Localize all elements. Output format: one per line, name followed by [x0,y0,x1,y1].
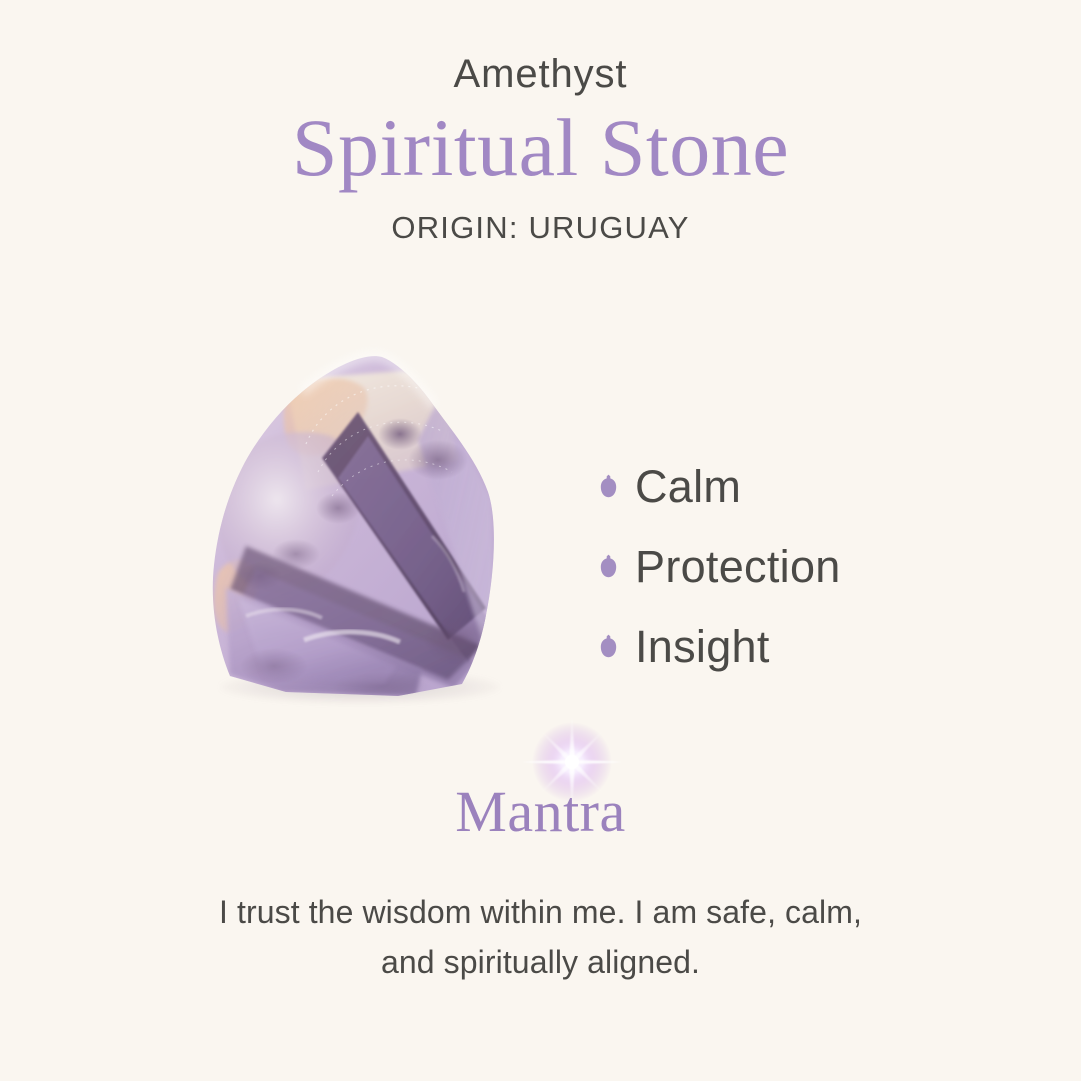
gem-bullet-icon [600,634,617,658]
crystal-illustration [186,340,526,720]
gem-bullet-icon [600,554,617,578]
origin-label: ORIGIN: URUGUAY [0,210,1081,246]
list-item-label: Protection [635,544,841,589]
list-item: Protection [600,526,1020,606]
amethyst-crystal-watercolor-icon [186,340,526,720]
mantra-section: Mantra I trust the wisdom within me. I a… [0,782,1081,988]
stone-info-card: Amethyst Spiritual Stone ORIGIN: URUGUAY [0,0,1081,1081]
properties-list: Calm Protection Insight [600,446,1020,686]
mantra-text: I trust the wisdom within me. I am safe,… [191,887,891,988]
list-item-label: Insight [635,624,770,669]
card-header: Amethyst Spiritual Stone ORIGIN: URUGUAY [0,54,1081,246]
list-item: Calm [600,446,1020,526]
page-title: Spiritual Stone [0,102,1081,194]
list-item-label: Calm [635,464,741,509]
stone-name-eyebrow: Amethyst [0,54,1081,94]
gem-bullet-icon [600,474,617,498]
mantra-heading: Mantra [0,782,1081,843]
list-item: Insight [600,606,1020,686]
